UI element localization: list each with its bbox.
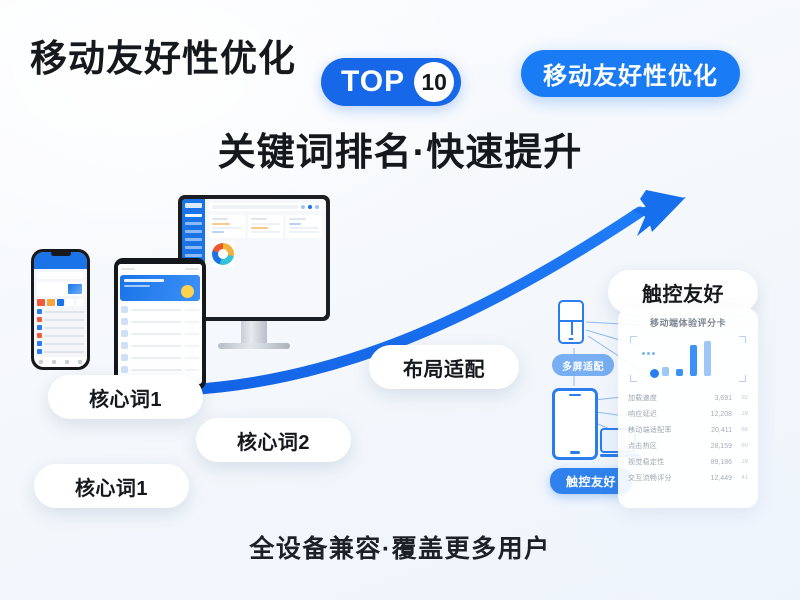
banner-badge-icon xyxy=(181,285,194,298)
row-label: 视觉稳定性 xyxy=(628,457,707,467)
promo-thumbnail xyxy=(68,284,82,294)
row-label: 交互流畅评分 xyxy=(628,473,707,483)
device-mockups xyxy=(18,195,348,395)
tablet-header xyxy=(118,264,202,273)
keyword-pill-layout-adaptation[interactable]: 布局适配 xyxy=(369,345,519,389)
tablet-list xyxy=(118,303,202,384)
phone-search-field xyxy=(37,272,84,279)
bar xyxy=(676,369,683,376)
row-label: 响应延迟 xyxy=(628,409,707,419)
row-value: 3,691 xyxy=(714,395,732,402)
footer-tagline: 全设备兼容·覆盖更多用户 xyxy=(0,529,800,565)
row-value: 20,411 xyxy=(711,427,732,434)
tablet-screen xyxy=(118,264,202,384)
list-item xyxy=(121,306,199,313)
smartphone-mockup xyxy=(31,249,90,370)
row-value: 12,449 xyxy=(711,475,732,482)
score-card-title: 移动端体验评分卡 xyxy=(627,316,749,329)
dashboard-toolbar xyxy=(209,203,322,211)
page-title: 移动友好性优化 xyxy=(30,28,296,82)
phone-notch xyxy=(51,251,71,256)
dashboard-content xyxy=(205,199,326,317)
phone-promo-card xyxy=(37,282,84,296)
donut-chart xyxy=(212,243,234,265)
phone-screen xyxy=(34,252,87,367)
status-dot-icon xyxy=(315,205,319,209)
score-card: 移动端体验评分卡 加载速度 3,691 92 响应延迟 xyxy=(618,308,758,508)
dashboard-logo xyxy=(185,203,202,208)
score-widget: 多屏适配 触控友好 移动端体验评分卡 加载速度 3,691 92 xyxy=(548,300,758,515)
bar xyxy=(662,367,669,376)
score-card-chart xyxy=(629,335,747,383)
list-item xyxy=(121,318,199,325)
row-score: 18 xyxy=(736,411,748,417)
row-label: 移动端适配率 xyxy=(628,425,707,435)
small-phone-icon xyxy=(558,300,584,344)
monitor-stand-neck xyxy=(241,321,267,343)
table-row: 加载速度 3,691 92 xyxy=(627,390,749,406)
list-item xyxy=(121,342,199,349)
row-score: 18 xyxy=(736,459,748,465)
row-score: 60 xyxy=(736,443,748,449)
chart-dots-icon xyxy=(642,352,655,355)
keyword-pill-2[interactable]: 核心词2 xyxy=(196,418,351,462)
status-dot-icon xyxy=(301,205,305,209)
tablet-banner xyxy=(120,275,200,301)
poster-canvas: 移动友好性优化 TOP 10 移动友好性优化 关键词排名·快速提升 xyxy=(0,0,800,600)
row-value: 28,159 xyxy=(711,443,732,450)
monitor-stand-base xyxy=(218,343,290,349)
status-dot-icon xyxy=(308,205,312,209)
list-item xyxy=(34,333,87,338)
tablet-mockup xyxy=(114,258,206,390)
row-score: 68 xyxy=(736,427,748,433)
bar xyxy=(690,345,697,376)
top-ranking-badge: TOP 10 xyxy=(321,58,461,106)
table-row: 点击热区 28,159 60 xyxy=(627,438,749,454)
keyword-pill-3[interactable]: 核心词1 xyxy=(34,464,189,508)
row-value: 12,208 xyxy=(711,411,732,418)
table-row: 交互流畅评分 12,449 41 xyxy=(627,470,749,486)
list-item xyxy=(34,341,87,346)
list-item xyxy=(121,366,199,373)
row-score: 92 xyxy=(736,395,748,401)
list-item xyxy=(34,325,87,330)
phone-tab-bar xyxy=(34,357,87,367)
top-badge-number: 10 xyxy=(414,62,454,102)
donut-chart-card xyxy=(212,241,234,267)
top-badge-word: TOP xyxy=(341,65,405,99)
list-item xyxy=(34,309,87,314)
stat-card xyxy=(286,215,322,238)
list-item xyxy=(121,354,199,361)
table-row: 移动端适配率 20,411 68 xyxy=(627,422,749,438)
table-row: 视觉稳定性 89,186 18 xyxy=(627,454,749,470)
stat-card xyxy=(209,215,245,238)
list-item xyxy=(121,330,199,337)
row-value: 89,186 xyxy=(711,459,732,466)
dashboard-search-bar xyxy=(212,205,298,209)
row-label: 点击热区 xyxy=(628,441,707,451)
list-item xyxy=(34,349,87,354)
phone-category-chips xyxy=(34,299,87,309)
bar xyxy=(704,341,711,376)
map-pin-icon xyxy=(650,369,659,378)
mini-pill-multiscreen[interactable]: 多屏适配 xyxy=(552,354,614,376)
row-score: 41 xyxy=(736,475,748,481)
list-item xyxy=(34,317,87,322)
tag-pill-mobile-friendly: 移动友好性优化 xyxy=(521,50,740,97)
large-phone-icon xyxy=(552,388,598,460)
row-label: 加载速度 xyxy=(628,393,710,403)
keyword-pill-1[interactable]: 核心词1 xyxy=(48,375,203,419)
table-row: 响应延迟 12,208 18 xyxy=(627,406,749,422)
stat-card xyxy=(248,215,284,238)
